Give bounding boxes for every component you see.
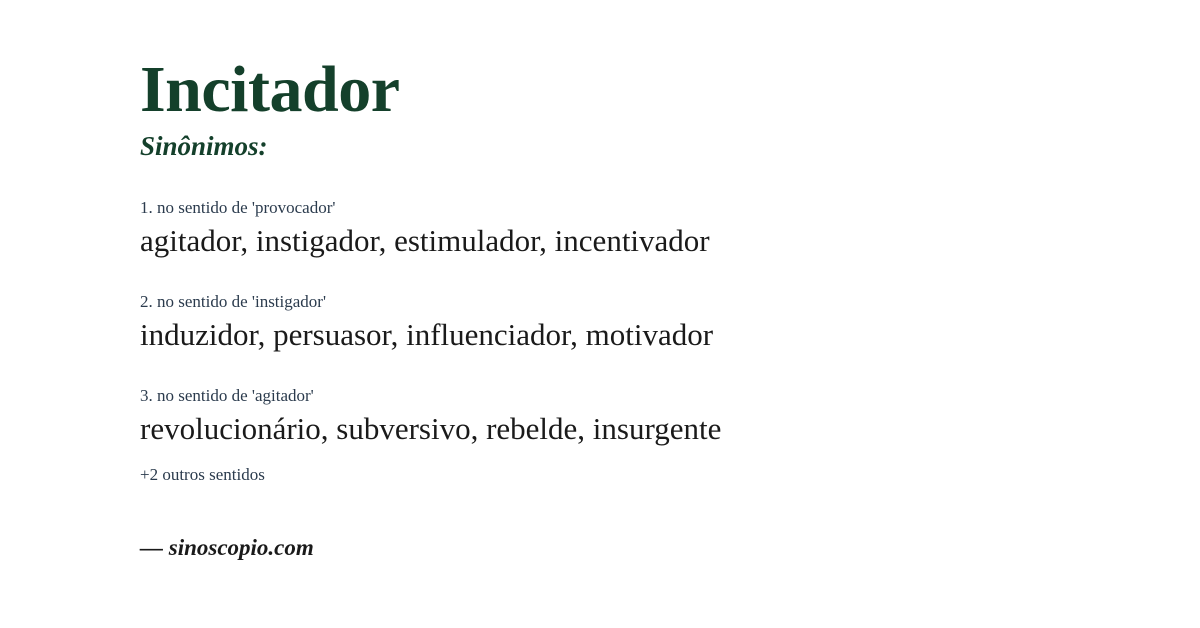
sense-block-3: 3. no sentido de 'agitador' revolucionár… [140,385,1100,447]
source-attribution: — sinoscopio.com [140,534,314,562]
synonym-card: Incitador Sinônimos: 1. no sentido de 'p… [0,0,1200,628]
sense-label: 1. no sentido de 'provocador' [140,197,1100,219]
more-senses-note: +2 outros sentidos [140,464,265,486]
sense-label: 2. no sentido de 'instigador' [140,291,1100,313]
subtitle-synonyms: Sinônimos: [140,133,268,160]
sense-label: 3. no sentido de 'agitador' [140,385,1100,407]
sense-synonyms: agitador, instigador, estimulador, incen… [140,223,1100,259]
sense-block-1: 1. no sentido de 'provocador' agitador, … [140,197,1100,259]
page-title: Incitador [140,57,400,123]
sense-block-2: 2. no sentido de 'instigador' induzidor,… [140,291,1100,353]
sense-list: 1. no sentido de 'provocador' agitador, … [140,197,1100,479]
sense-synonyms: induzidor, persuasor, influenciador, mot… [140,317,1100,353]
sense-synonyms: revolucionário, subversivo, rebelde, ins… [140,411,1100,447]
